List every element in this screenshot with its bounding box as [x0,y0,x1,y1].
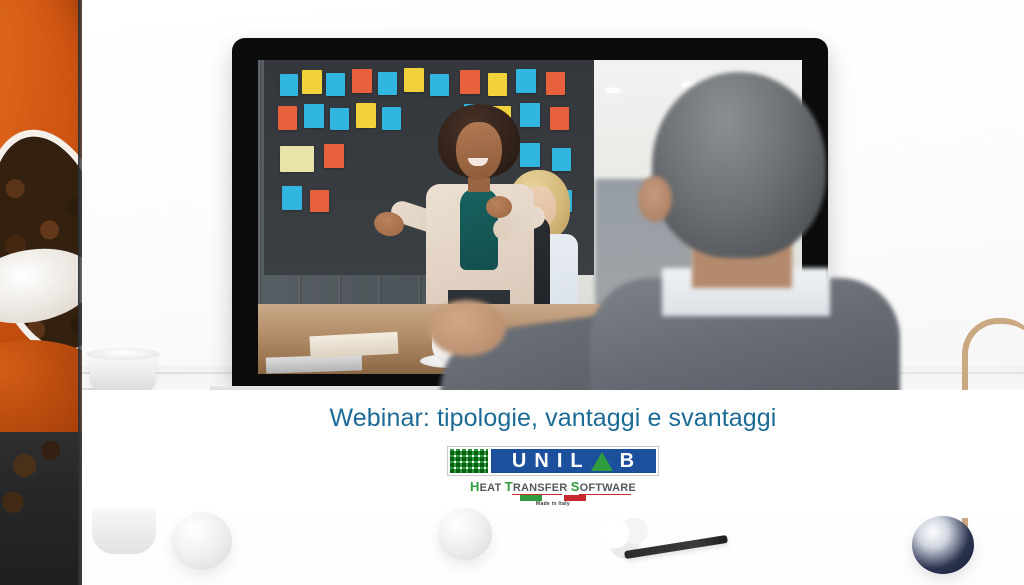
sticky-note [324,144,344,168]
sticky-note [378,72,397,95]
viewer-head [652,72,826,258]
white-sphere [172,512,232,570]
webinar-banner-image: Webinar: tipologie, vantaggi e svantaggi… [0,0,1024,585]
sticky-note [404,68,424,92]
white-cup-rim [86,348,160,360]
made-in-italy-text: Made in Italy [520,501,586,508]
logo-tagline: HEAT TRANSFER SOFTWARE [447,479,659,494]
sticky-note [326,73,345,96]
made-in-italy-badge: Made in Italy [520,495,586,508]
logo-letter-b: B [620,451,635,471]
logo-grid-icon [450,449,488,473]
white-sphere [438,508,492,560]
sticky-note [330,108,349,130]
logo-letter-i: I [557,451,564,471]
logo-name-band: U N I L B [491,449,656,473]
video-table-book [309,332,398,359]
presenter-face [456,122,502,180]
unilab-logo: U N I L B HEAT TRANSFER SOFTWARE [447,446,659,508]
sticky-note [430,74,449,96]
cup-rim-with-beans [0,117,82,369]
foreground-viewer [600,72,890,402]
sticky-note [310,190,329,212]
page-title: Webinar: tipologie, vantaggi e svantaggi [82,404,1024,433]
left-coffee-strip [0,0,82,585]
sticky-note [488,73,507,96]
logo-letter-u: U [512,451,527,471]
title-banner: Webinar: tipologie, vantaggi e svantaggi… [82,390,1024,518]
tagline-word-transfer: TRANSFER [505,479,568,494]
viewer-ear [638,176,672,222]
sticky-note [382,107,401,130]
sticky-note [302,70,322,94]
sticky-note [460,70,480,94]
logo-main-block: U N I L B [447,446,659,476]
presenter-right-hand [486,196,512,218]
viewer-hand [428,300,506,356]
logo-letter-a-triangle-icon [591,452,613,471]
dark-sphere [912,516,974,574]
sticky-note [356,103,376,128]
sticky-note [546,72,565,95]
sticky-note [304,104,324,128]
sticky-note [516,69,536,93]
tagline-word-software: SOFTWARE [571,479,636,494]
tagline-word-heat: HEAT [470,479,501,494]
sticky-note [280,74,298,96]
sticky-note [352,69,372,93]
white-bowl [92,508,156,554]
sticky-note [282,186,302,210]
coffee-beans [0,126,82,361]
dark-floor-with-beans [0,432,82,585]
logo-letter-l: L [570,451,583,471]
logo-letter-n: N [534,451,549,471]
sticky-note [278,106,297,130]
sticky-note [280,146,314,172]
